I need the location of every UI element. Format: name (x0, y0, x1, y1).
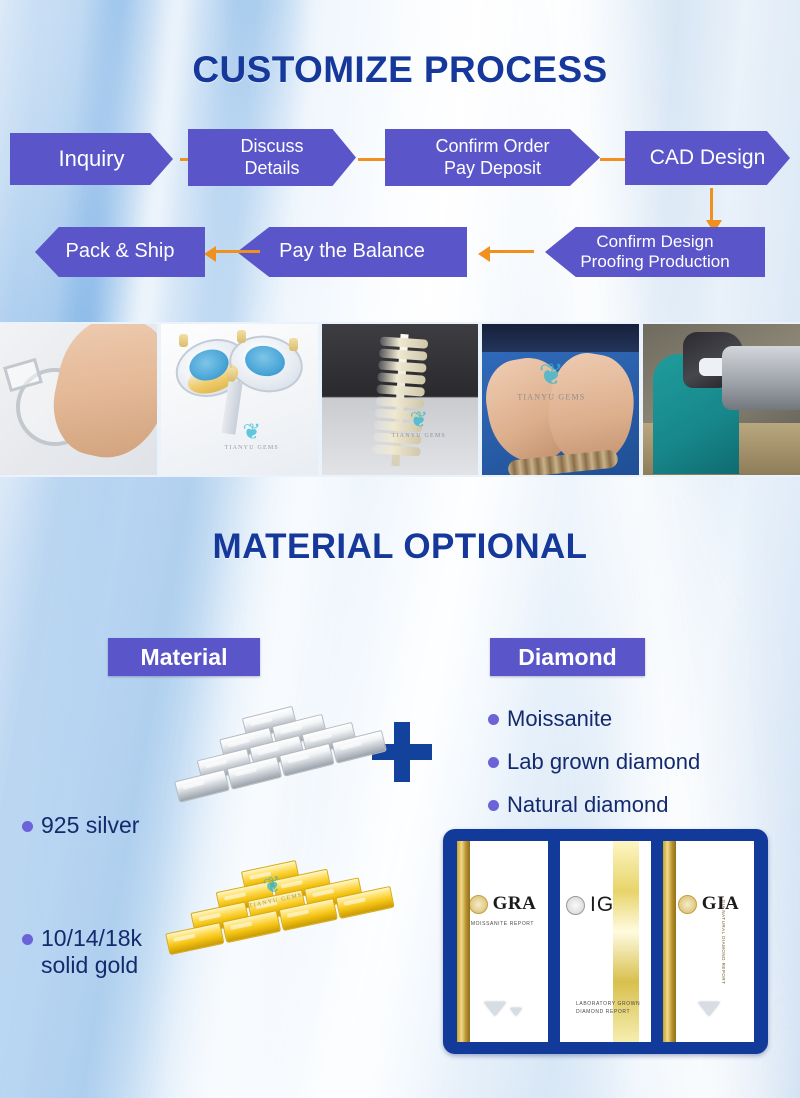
polishing-machine-shape (722, 346, 800, 410)
photo-ring-hand-sketch (0, 324, 157, 475)
photo-cad-design-render: ❦ TIANYU GEMS (161, 324, 318, 475)
flow-step-confirm-order-label: Confirm Order Pay Deposit (435, 136, 549, 178)
diamond-option-label: Natural diamond (507, 792, 668, 818)
material-option-gold-line2: solid gold (41, 952, 138, 978)
certificate-name: GRA (493, 893, 537, 915)
bench-background (482, 324, 639, 352)
bullet-icon (488, 714, 499, 725)
list-item: Natural diamond (488, 792, 700, 818)
certificate-header: GRA (457, 893, 548, 915)
gemstone-illustration (698, 1002, 720, 1016)
diamond-category-chip[interactable]: Diamond (490, 638, 645, 676)
process-flowchart: Inquiry Discuss Details Confirm Order Pa… (0, 0, 800, 322)
process-photo-strip: ❦ TIANYU GEMS ❦ TIANYU GEMS ❦ (0, 324, 800, 475)
diamond-option-label: Lab grown diamond (507, 749, 700, 775)
list-item: Lab grown diamond (488, 749, 700, 775)
flow-step-discuss-line1: Discuss (240, 136, 303, 156)
flow-step-confirm-design-proofing[interactable]: Confirm Design Proofing Production (545, 227, 765, 277)
material-chip-label: Material (141, 644, 228, 671)
cad-prong-2 (237, 330, 246, 343)
material-option-silver: 925 silver (22, 812, 139, 839)
material-option-gold: 10/14/18k solid gold (22, 925, 142, 979)
resin-tree-shape (367, 332, 432, 468)
flow-arrow-confirm-to-cad (600, 158, 628, 161)
flow-step-pay-balance-label: Pay the Balance (279, 240, 425, 264)
list-item: Moissanite (488, 706, 700, 732)
diamond-chip-label: Diamond (518, 644, 616, 671)
bullet-icon (488, 757, 499, 768)
material-option-gold-line1: 10/14/18k (41, 925, 142, 951)
certificate-gia: GIA NATURAL DIAMOND REPORT GIA (663, 841, 754, 1042)
gra-seal-icon (469, 895, 488, 914)
diamond-icon (484, 1002, 506, 1016)
certificate-gra: GRA MOISSANITE REPORT (457, 841, 548, 1042)
infographic-page: CUSTOMIZE PROCESS Inquiry Discuss Detail… (0, 0, 800, 1098)
bullet-icon (22, 934, 33, 945)
flow-step-discuss-details[interactable]: Discuss Details (188, 129, 356, 186)
cad-prong-4 (227, 368, 236, 381)
flow-step-cad-design-label: CAD Design (650, 146, 766, 171)
cad-prong-3 (289, 338, 298, 351)
diamond-icon (510, 1008, 522, 1016)
certificate-igi: IGI LABORATORY GROWN DIAMOND REPORT (560, 841, 651, 1042)
certificate-subtitle: MOISSANITE REPORT (471, 920, 534, 928)
certificate-side-text: GIA NATURAL DIAMOND REPORT (721, 899, 726, 984)
certificate-gold-edge (663, 841, 676, 1042)
flow-arrow-balance-to-pack (215, 250, 260, 253)
flow-step-inquiry[interactable]: Inquiry (10, 133, 173, 185)
flow-step-cad-design[interactable]: CAD Design (625, 131, 790, 185)
flow-step-pay-the-balance[interactable]: Pay the Balance (237, 227, 467, 277)
flow-step-confirm-design-line2: Proofing Production (580, 252, 729, 271)
bullet-icon (22, 821, 33, 832)
diamond-icon (698, 1002, 720, 1016)
certificate-header: GIA (663, 893, 754, 915)
photo-hands-setting-stones: ❦ TIANYU GEMS (482, 324, 639, 475)
diamond-options-list: Moissanite Lab grown diamond Natural dia… (488, 706, 700, 835)
certificate-subtitle: LABORATORY GROWN DIAMOND REPORT (576, 1000, 640, 1016)
flow-step-confirm-line1: Confirm Order (435, 136, 549, 156)
flow-step-pack-ship-label: Pack & Ship (66, 240, 175, 264)
flow-step-confirm-line2: Pay Deposit (444, 158, 541, 178)
gia-seal-icon (678, 895, 697, 914)
material-option-silver-label: 925 silver (41, 812, 139, 839)
diamond-option-label: Moissanite (507, 706, 612, 732)
photo-jeweler-at-bench (643, 324, 800, 475)
igi-seal-icon (566, 896, 585, 915)
gemstone-illustration (484, 1002, 522, 1016)
page-title-material-optional: MATERIAL OPTIONAL (0, 527, 800, 567)
material-option-gold-label: 10/14/18k solid gold (41, 925, 142, 979)
flow-step-discuss-details-label: Discuss Details (240, 136, 303, 178)
cad-prong-1 (179, 334, 188, 347)
flow-arrow-confirm-design-to-balance (489, 250, 534, 253)
flow-step-confirm-design-line1: Confirm Design (596, 232, 713, 251)
certificates-panel: GRA MOISSANITE REPORT IGI LABORATORY GRO… (443, 829, 768, 1054)
flow-step-confirm-order-pay-deposit[interactable]: Confirm Order Pay Deposit (385, 129, 600, 186)
photo-resin-printed-tree: ❦ TIANYU GEMS (322, 324, 479, 475)
flow-arrow-discuss-to-confirm (358, 158, 386, 161)
bullet-icon (488, 800, 499, 811)
flow-step-confirm-design-label: Confirm Design Proofing Production (580, 232, 729, 272)
hand-shape (43, 324, 156, 468)
certificate-subtitle-line2: DIAMOND REPORT (576, 1009, 630, 1015)
flow-step-discuss-line2: Details (244, 158, 299, 178)
flow-step-pack-and-ship[interactable]: Pack & Ship (35, 227, 205, 277)
material-category-chip[interactable]: Material (108, 638, 260, 676)
certificate-subtitle-line1: LABORATORY GROWN (576, 1001, 640, 1007)
watermark-brand-text: TIANYU GEMS (225, 445, 279, 451)
flow-step-inquiry-label: Inquiry (58, 146, 124, 172)
certificate-gold-edge (457, 841, 470, 1042)
flow-arrow-cad-to-confirm-design (710, 188, 713, 220)
